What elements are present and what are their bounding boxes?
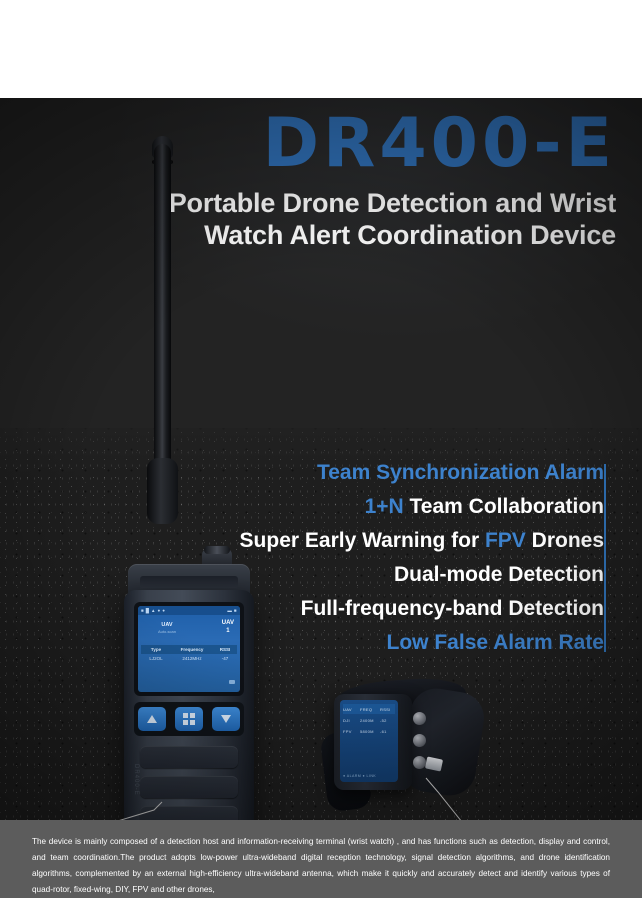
watch-screen[interactable]: UAV FREQ RSSI DJI 2400M -52 FPV 5800M -6… <box>340 700 398 782</box>
device-screen-indicator <box>229 680 235 684</box>
watch-row1-uav: DJI <box>343 718 360 723</box>
watch-table-header: UAV FREQ RSSI <box>343 704 395 714</box>
hero-panel: DR400-E Portable Drone Detection and Wri… <box>0 98 642 820</box>
triangle-up-icon <box>146 714 158 724</box>
watch-row1-rssi: -52 <box>380 718 394 723</box>
device-col-frequency: Frequency <box>171 647 213 652</box>
watch-side-button-middle[interactable] <box>413 734 426 747</box>
callout-leader-wrist-watch <box>420 774 580 820</box>
watch-col-uav: UAV <box>343 707 360 712</box>
feature-text-fpv-pre: Super Early Warning for <box>240 529 485 552</box>
down-arrow-key[interactable] <box>212 707 240 731</box>
antenna-rod <box>154 144 171 474</box>
device-col-type: Type <box>141 647 171 652</box>
device-uav-label: UAV <box>222 619 234 627</box>
device-grip-ridge <box>140 776 238 798</box>
device-knob-top <box>204 546 230 554</box>
triangle-down-icon <box>220 714 232 724</box>
watch-side-button-top[interactable] <box>413 712 426 725</box>
feature-highlight-fpv: FPV <box>485 529 526 552</box>
up-arrow-key[interactable] <box>138 707 166 731</box>
watch-row2-uav: FPV <box>343 729 360 734</box>
main-device-illustration: ■ █ ▲ ● ● ▬ ■ UAV Auto-scan UAV 1 Type F… <box>118 128 258 820</box>
feature-text-team-collaboration: Team Collaboration <box>404 495 604 518</box>
device-col-rssi: RSSI <box>213 647 237 652</box>
device-uav-count: 1 <box>222 627 234 635</box>
device-val-frequency: 2412MHz <box>171 656 213 661</box>
watch-status-footer: ● ALARM ● LINK <box>343 774 395 778</box>
four-squares-icon <box>183 713 195 725</box>
watch-row1-freq: 2400M <box>360 718 380 723</box>
feature-highlight-1n: 1+N <box>365 495 404 518</box>
antenna-base <box>147 458 178 524</box>
footer-panel: The device is mainly composed of a detec… <box>0 820 642 898</box>
top-white-margin <box>0 0 642 98</box>
watch-row2-freq: 5800M <box>360 729 380 734</box>
device-table-header: Type Frequency RSSI <box>141 645 237 654</box>
device-val-rssi: -47 <box>213 656 237 661</box>
device-status-bar: ■ █ ▲ ● ● ▬ ■ <box>138 606 240 615</box>
device-keypad <box>134 702 244 736</box>
watch-col-freq: FREQ <box>360 707 380 712</box>
feature-text-fpv-post: Drones <box>526 529 604 552</box>
device-top-slot <box>140 576 238 588</box>
feature-accent-rule <box>604 464 606 652</box>
device-status-left: ■ █ ▲ ● ● <box>141 608 165 613</box>
device-screen[interactable]: ■ █ ▲ ● ● ▬ ■ UAV Auto-scan UAV 1 Type F… <box>138 606 240 692</box>
callout-leader-main-device <box>14 798 164 820</box>
watch-table-row: FPV 5800M -61 <box>343 726 395 736</box>
device-screen-center-sub: Auto-scan <box>158 629 176 634</box>
device-screen-center-title: UAV <box>158 622 176 629</box>
watch-col-rssi: RSSI <box>380 707 394 712</box>
device-screen-center: UAV Auto-scan <box>158 622 176 634</box>
footer-description: The device is mainly composed of a detec… <box>0 820 642 898</box>
device-table-row: LJ2OL 2412MHz -47 <box>141 654 237 663</box>
device-uav-counter: UAV 1 <box>222 619 234 635</box>
menu-key[interactable] <box>175 707 203 731</box>
device-status-right: ▬ ■ <box>227 608 237 613</box>
watch-row2-rssi: -61 <box>380 729 394 734</box>
device-val-type: LJ2OL <box>141 656 171 661</box>
watch-side-button-bottom[interactable] <box>413 756 426 769</box>
subtitle-line-2: Watch Alert Coordination Device <box>204 220 616 250</box>
device-grip-ridge <box>140 746 238 768</box>
watch-table-row: DJI 2400M -52 <box>343 715 395 725</box>
